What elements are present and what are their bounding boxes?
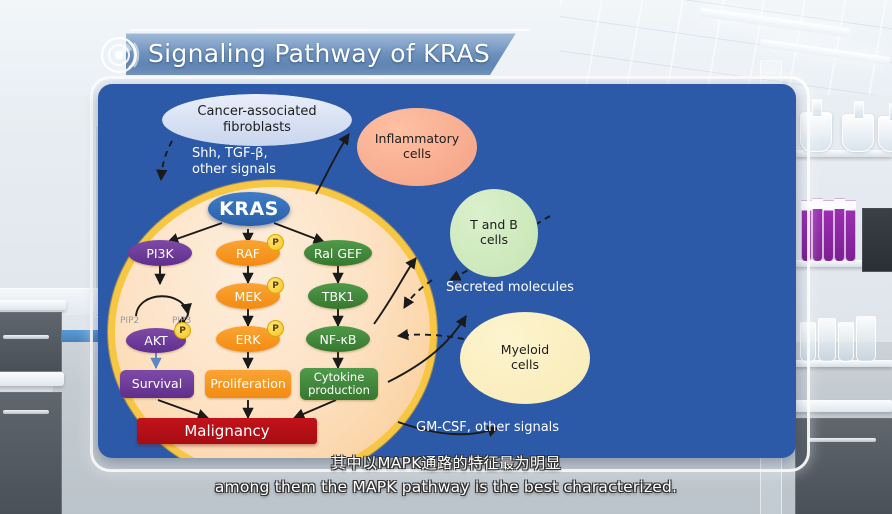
page-title: Signaling Pathway of KRAS (148, 39, 490, 68)
proliferation-label: Proliferation (210, 377, 286, 391)
t-and-b-label: T and B cells (470, 218, 518, 248)
ral-gef-node: Ral GEF (304, 240, 372, 266)
pip2-label: PIP2 (120, 316, 139, 326)
nfkb-label: NF-κB (320, 332, 357, 347)
phospho-letter: P (272, 324, 279, 334)
equipment-box (862, 208, 892, 272)
ral-gef-label: Ral GEF (314, 246, 362, 261)
test-tube-4 (834, 198, 845, 262)
malignancy-label: Malignancy (184, 422, 269, 440)
phospho-letter: P (272, 281, 279, 291)
raf-node: RAF P (216, 240, 280, 266)
fibroblasts-label: Cancer-associated fibroblasts (162, 104, 352, 135)
cabinet-handle (3, 335, 49, 339)
cancer-associated-fibroblasts: Cancer-associated fibroblasts (162, 94, 352, 146)
myeloid-label: Myeloid cells (501, 343, 549, 373)
kras-label: KRAS (219, 198, 279, 220)
proliferation-box: Proliferation (205, 370, 291, 398)
flask-2 (842, 114, 874, 152)
inflammatory-cells: Inflammatory cells (357, 108, 477, 186)
survival-label: Survival (132, 377, 182, 391)
phospho-badge-erk: P (267, 320, 284, 337)
cytokine-production-box: Cytokine production (300, 368, 378, 400)
test-tube-2 (812, 198, 823, 262)
gmcsf-label: GM-CSF, other signals (416, 420, 559, 436)
beaker-3 (838, 322, 854, 362)
left-cabinet-upper (0, 312, 62, 372)
screen: Signaling Pathway of KRAS (0, 0, 892, 514)
phospho-badge-mek: P (267, 277, 284, 294)
cabinet-handle (808, 438, 876, 442)
pi3k-node: PI3K (128, 240, 192, 266)
phospho-badge-raf: P (267, 234, 284, 251)
raf-label: RAF (236, 246, 260, 261)
beaker-2 (818, 318, 836, 362)
radar-circle-icon (96, 30, 146, 80)
title-banner: Signaling Pathway of KRAS (96, 33, 516, 75)
phospho-letter: P (179, 326, 186, 336)
kras-node: KRAS (208, 192, 290, 226)
test-tube-3 (823, 200, 834, 262)
mek-label: MEK (235, 289, 262, 304)
flask-3 (878, 116, 892, 152)
t-and-b-cells: T and B cells (450, 189, 538, 277)
cabinet-handle (3, 410, 49, 414)
myeloid-cells: Myeloid cells (460, 312, 590, 404)
test-tube-5 (845, 200, 856, 262)
malignancy-box: Malignancy (137, 418, 317, 444)
akt-node: AKT P (126, 328, 186, 353)
inflammatory-label: Inflammatory cells (375, 132, 459, 162)
fibroblast-signals-label: Shh, TGF-β, other signals (192, 146, 276, 179)
flask-neck (812, 99, 821, 117)
subtitle-english: among them the MAPK pathway is the best … (0, 478, 892, 496)
cytokine-label: Cytokine production (308, 371, 370, 396)
tbk1-label: TBK1 (322, 289, 354, 304)
diagram-panel: Cancer-associated fibroblasts Shh, TGF-β… (98, 84, 796, 458)
akt-label: AKT (144, 333, 167, 348)
nfkb-node: NF-κB (306, 326, 370, 352)
phospho-badge-akt: P (174, 322, 191, 339)
left-counter-top (0, 300, 66, 310)
pi3k-label: PI3K (146, 246, 173, 261)
beaker-4 (856, 316, 876, 362)
subtitle-block: 其中以MAPK通路的特征最为明显 among them the MAPK pat… (0, 452, 892, 496)
erk-node: ERK P (216, 326, 280, 352)
survival-box: Survival (120, 370, 194, 398)
tbk1-node: TBK1 (308, 283, 368, 309)
phospho-letter: P (272, 238, 279, 248)
secreted-molecules-label: Secreted molecules (446, 280, 574, 296)
left-counter-lower (0, 372, 64, 386)
flask-neck (854, 101, 863, 119)
mek-node: MEK P (216, 283, 280, 309)
erk-label: ERK (236, 332, 261, 347)
subtitle-chinese: 其中以MAPK通路的特征最为明显 (0, 452, 892, 473)
